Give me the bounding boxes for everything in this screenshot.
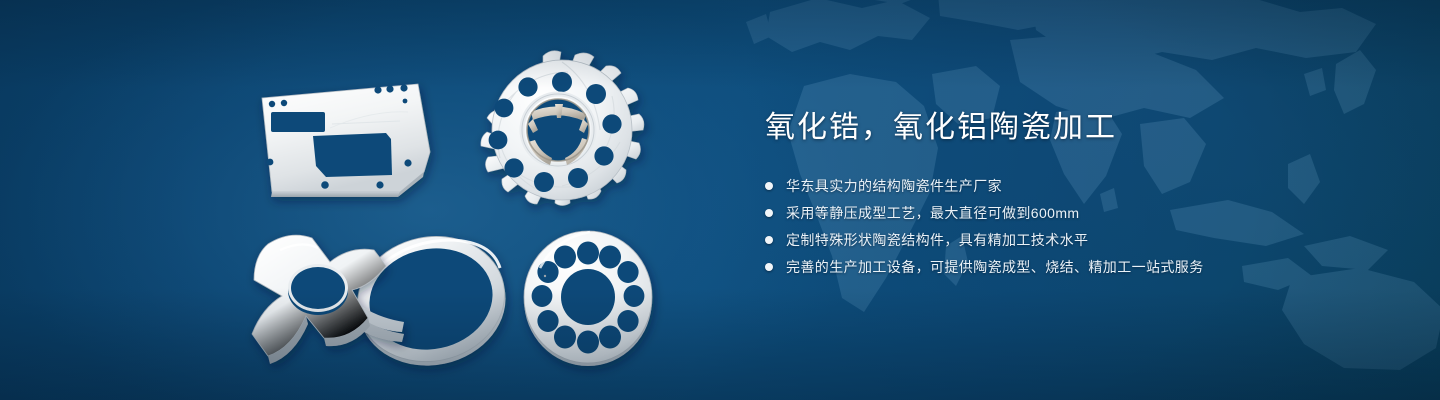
- promo-banner: 氧化锆，氧化铝陶瓷加工 华东具实力的结构陶瓷件生产厂家 采用等静压成型工艺，最大…: [0, 0, 1440, 400]
- banner-vignette: [0, 0, 1440, 400]
